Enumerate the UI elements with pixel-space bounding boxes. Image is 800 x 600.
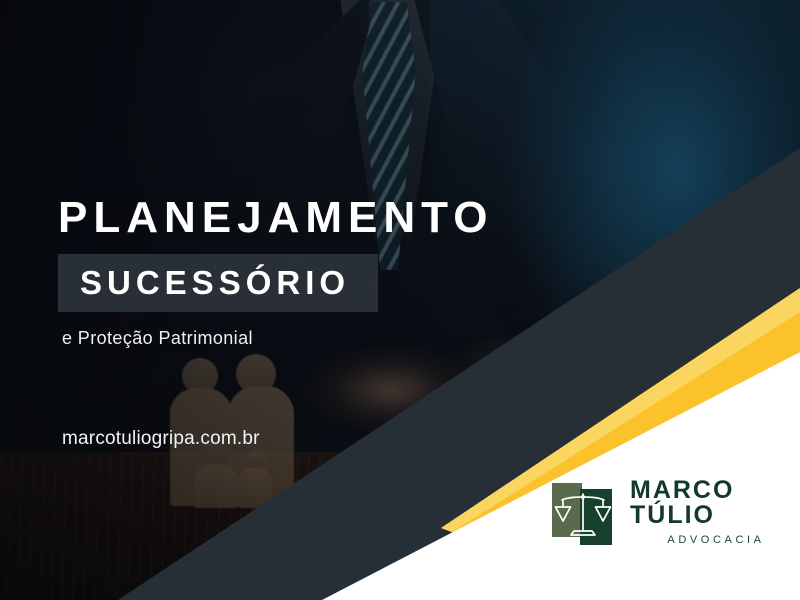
page-title: PLANEJAMENTO [58, 196, 528, 240]
headline-block: PLANEJAMENTO SUCESSÓRIO e Proteção Patri… [58, 196, 528, 349]
logo-subtitle: ADVOCACIA [632, 535, 800, 546]
page-subtitle: SUCESSÓRIO [80, 266, 350, 299]
logo-name: MARCO TÚLIO [630, 478, 800, 528]
brand-logo[interactable]: MARCO TÚLIO ADVOCACIA [550, 478, 800, 546]
logo-text-block: MARCO TÚLIO ADVOCACIA [630, 478, 800, 546]
promotional-banner: PLANEJAMENTO SUCESSÓRIO e Proteção Patri… [0, 0, 800, 600]
website-url[interactable]: marcotuliogripa.com.br [62, 428, 260, 450]
logo-mark [550, 479, 616, 545]
title-highlight-box: SUCESSÓRIO [58, 254, 378, 312]
scales-of-justice-icon [554, 487, 612, 541]
tagline-text: e Proteção Patrimonial [62, 328, 528, 349]
